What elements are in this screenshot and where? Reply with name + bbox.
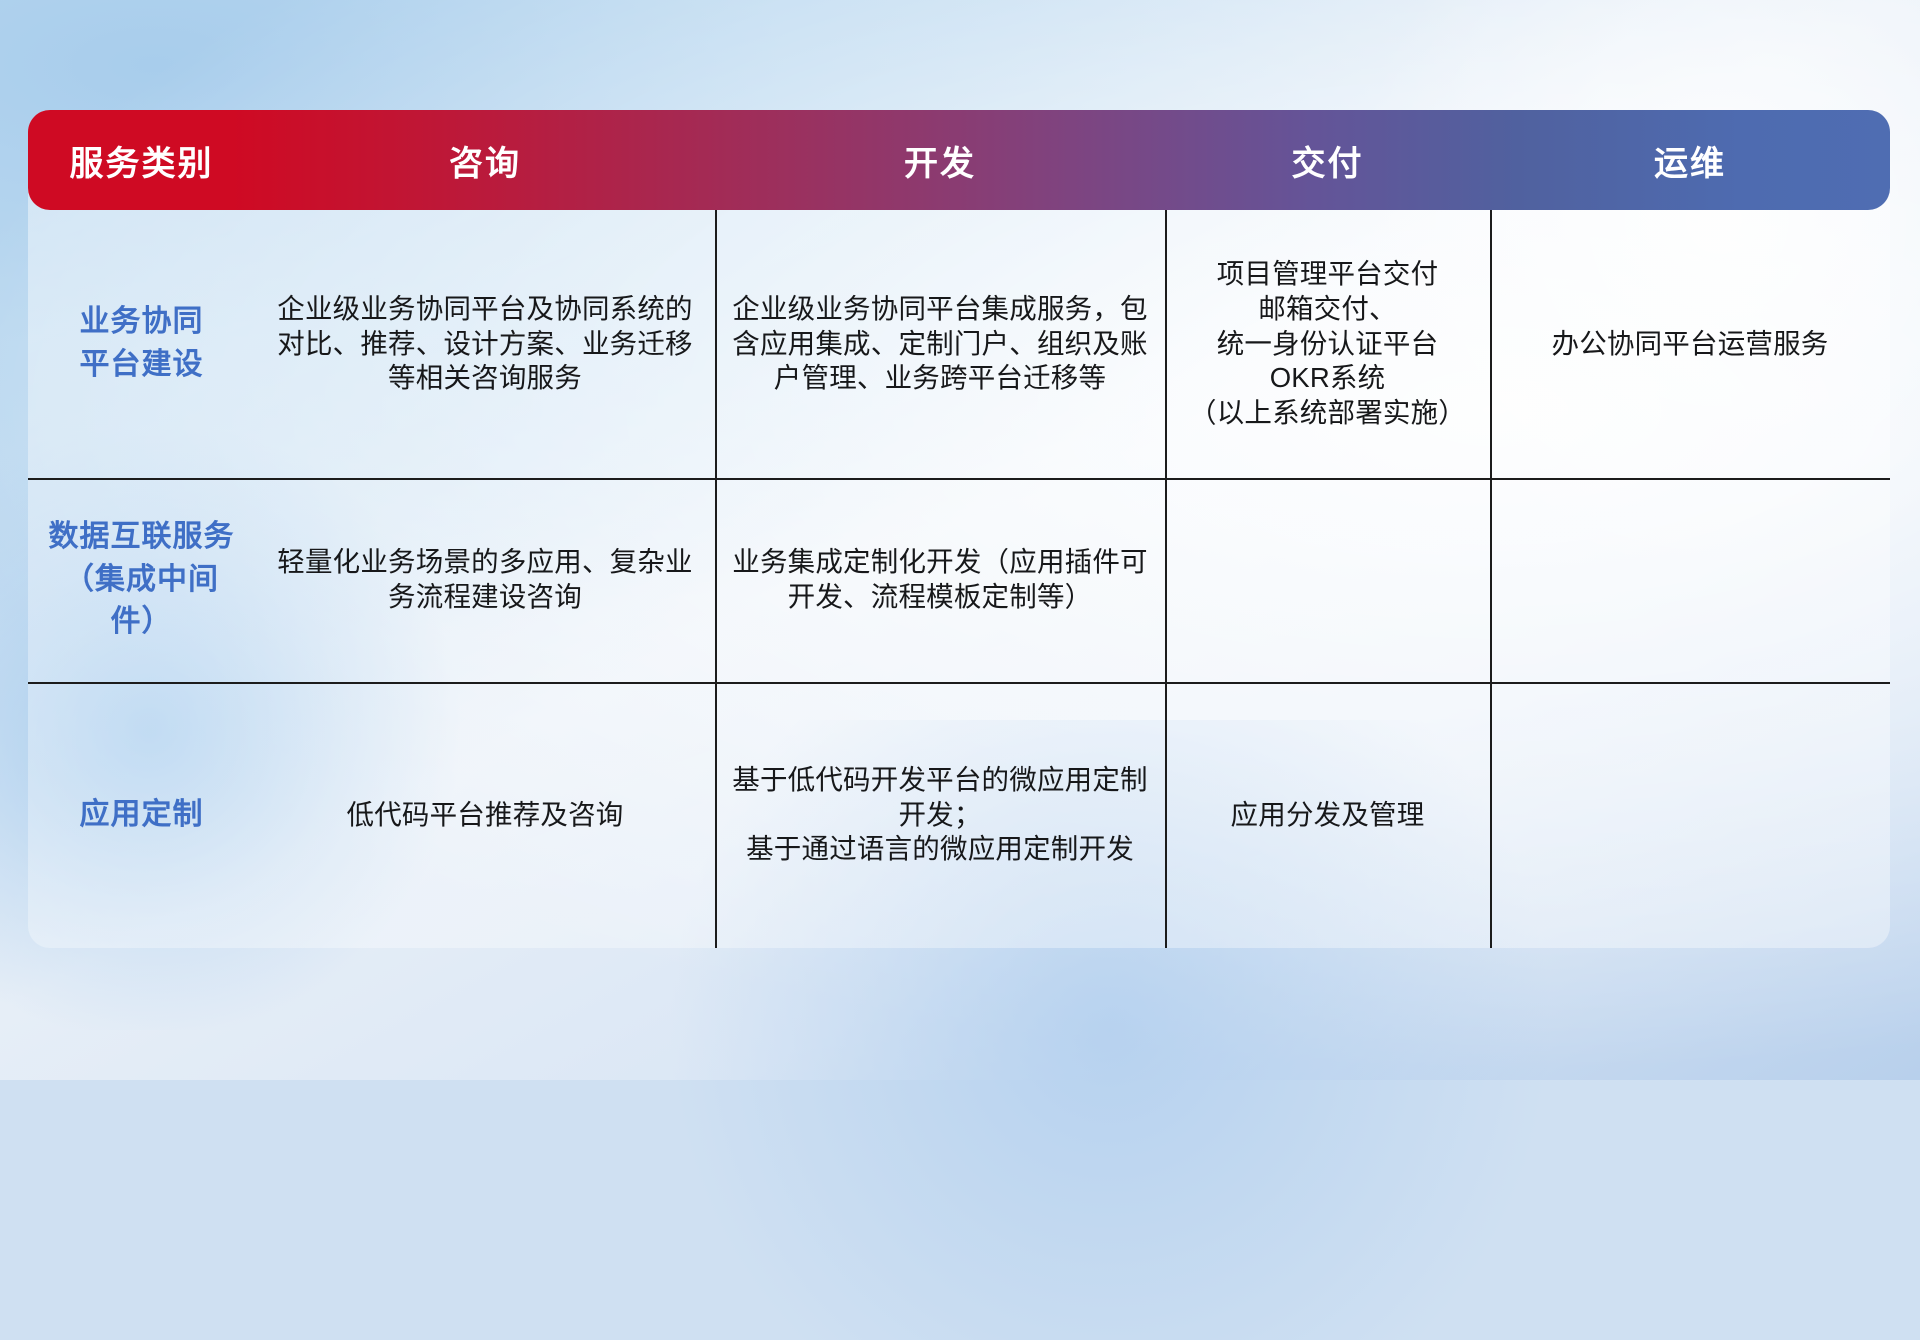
cell-consulting: 企业级业务协同平台及协同系统的对比、推荐、设计方案、业务迁移等相关咨询服务 [255, 210, 715, 478]
cell-development: 业务集成定制化开发（应用插件可开发、流程模板定制等） [715, 478, 1165, 682]
cell-delivery: 应用分发及管理 [1165, 682, 1490, 948]
table-row: 应用定制 低代码平台推荐及咨询 基于低代码开发平台的微应用定制开发； 基于通过语… [28, 682, 1890, 948]
cell-development: 基于低代码开发平台的微应用定制开发； 基于通过语言的微应用定制开发 [715, 682, 1165, 948]
cell-development: 企业级业务协同平台集成服务，包含应用集成、定制门户、组织及账户管理、业务跨平台迁… [715, 210, 1165, 478]
cell-delivery: 项目管理平台交付 邮箱交付、 统一身份认证平台 OKR系统 （以上系统部署实施） [1165, 210, 1490, 478]
column-header-delivery: 交付 [1165, 136, 1490, 185]
cell-operations [1490, 682, 1890, 948]
row-category-label: 数据互联服务 （集成中间件） [28, 478, 255, 682]
column-divider-2 [1165, 210, 1167, 948]
column-header-development: 开发 [715, 136, 1165, 185]
cell-consulting: 低代码平台推荐及咨询 [255, 682, 715, 948]
column-header-consulting: 咨询 [255, 136, 715, 185]
column-header-operations: 运维 [1490, 136, 1890, 185]
column-header-service-category: 服务类别 [28, 136, 255, 185]
table-header-row: 服务类别 咨询 开发 交付 运维 [28, 110, 1890, 210]
row-category-label: 业务协同 平台建设 [28, 210, 255, 478]
table-row: 业务协同 平台建设 企业级业务协同平台及协同系统的对比、推荐、设计方案、业务迁移… [28, 210, 1890, 478]
row-divider-1 [28, 478, 1890, 480]
cell-delivery [1165, 478, 1490, 682]
service-matrix-panel: 服务类别 咨询 开发 交付 运维 业务协同 平台建设 企业级业务协同平台及协同系… [28, 110, 1890, 948]
table-body: 业务协同 平台建设 企业级业务协同平台及协同系统的对比、推荐、设计方案、业务迁移… [28, 210, 1890, 948]
row-divider-2 [28, 682, 1890, 684]
cell-consulting: 轻量化业务场景的多应用、复杂业务流程建设咨询 [255, 478, 715, 682]
cell-operations: 办公协同平台运营服务 [1490, 210, 1890, 478]
cell-operations [1490, 478, 1890, 682]
row-category-label: 应用定制 [28, 682, 255, 948]
table-row: 数据互联服务 （集成中间件） 轻量化业务场景的多应用、复杂业务流程建设咨询 业务… [28, 478, 1890, 682]
column-divider-1 [715, 210, 717, 948]
column-divider-3 [1490, 210, 1492, 948]
